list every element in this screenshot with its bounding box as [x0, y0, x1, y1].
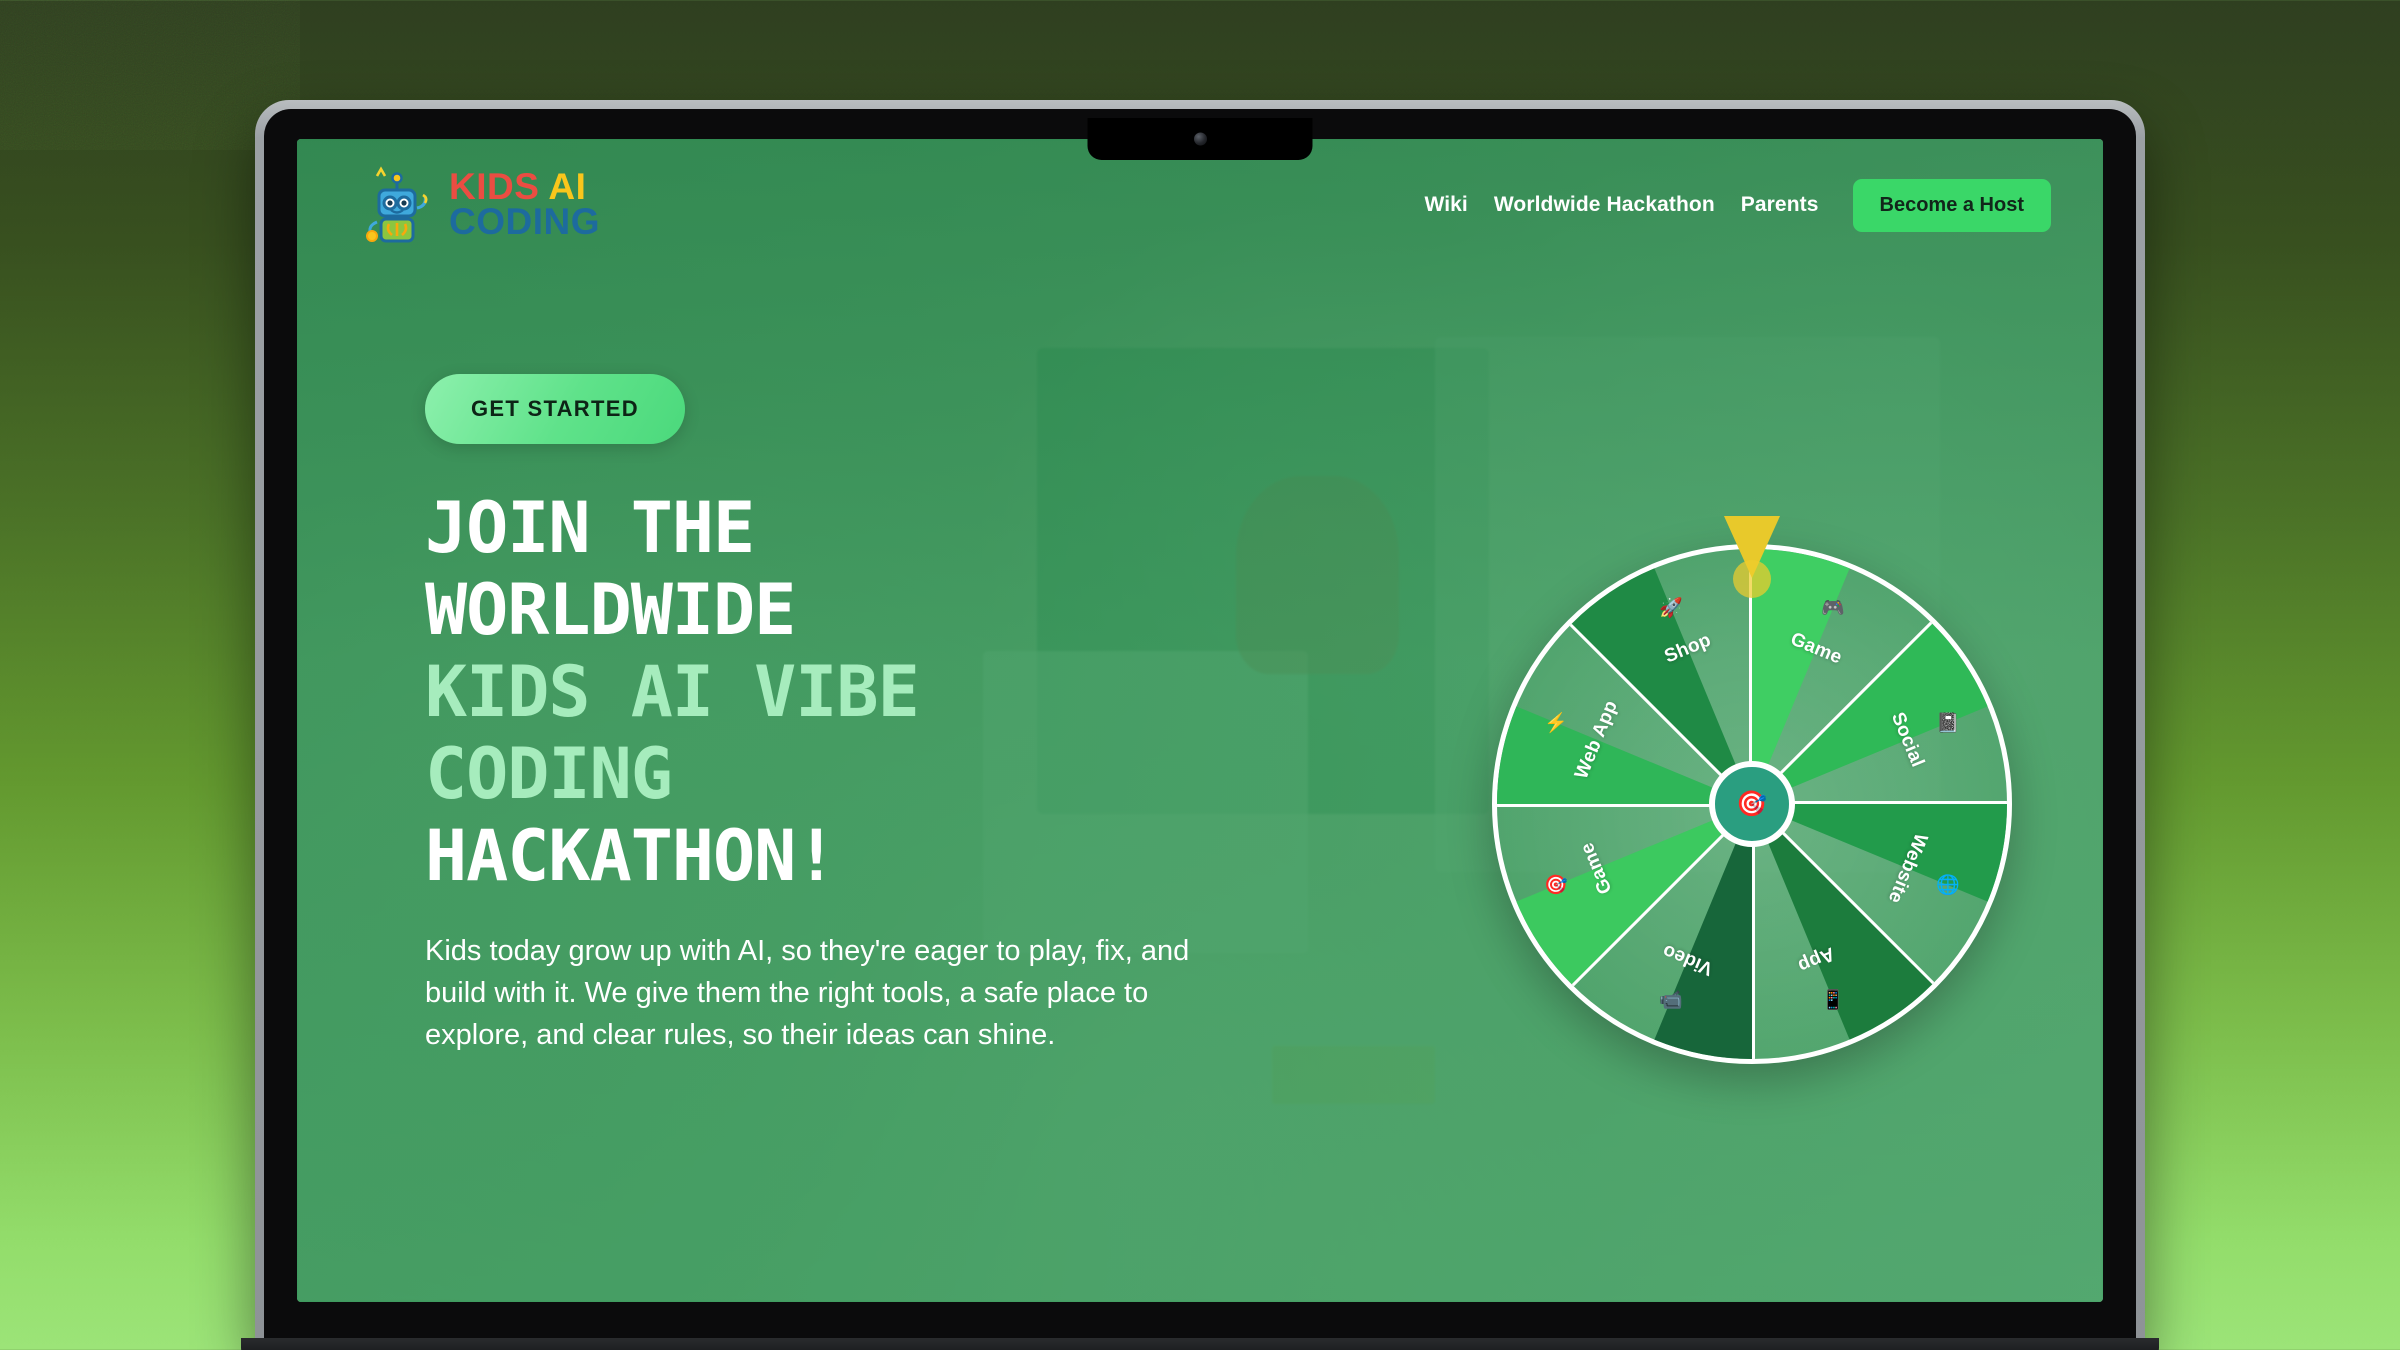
globe-icon: 🌐: [1936, 873, 1960, 897]
headline-line-3: KIDS AI VIBE: [425, 651, 919, 733]
bolt-icon: ⚡: [1544, 711, 1568, 735]
laptop-screen: KIDSAI CODING Wiki Worldwide Hackathon P…: [297, 139, 2103, 1302]
camera-icon: [1194, 133, 1207, 146]
screen-notch: [1088, 118, 1313, 160]
logo-coding: CODING: [449, 205, 600, 240]
wheel-pointer-icon: [1724, 516, 1780, 590]
laptop-base: [241, 1338, 2159, 1350]
wheel-hub-target-icon[interactable]: 🎯: [1709, 761, 1795, 847]
hero-headline: JOIN THE WORLDWIDE KIDS AI VIBE CODING H…: [425, 488, 1285, 897]
headline-line-1: JOIN THE: [425, 487, 754, 569]
notebook-icon: 📓: [1936, 711, 1960, 735]
hero-paragraph: Kids today grow up with AI, so they're e…: [425, 931, 1225, 1056]
nav-item-worldwide-hackathon[interactable]: Worldwide Hackathon: [1494, 193, 1715, 217]
nav-item-parents[interactable]: Parents: [1741, 193, 1819, 217]
gamepad-icon: 🎮: [1821, 596, 1845, 620]
phone-icon: 📱: [1821, 988, 1845, 1012]
main-navigation: Wiki Worldwide Hackathon Parents Become …: [1424, 179, 2051, 232]
camcorder-icon: 📹: [1659, 988, 1683, 1012]
hero-content: GET STARTED JOIN THE WORLDWIDE KIDS AI V…: [425, 374, 1285, 1057]
robot-mascot-icon: [359, 164, 435, 246]
target-icon: 🎯: [1544, 873, 1568, 897]
rocket-icon: 🚀: [1659, 596, 1683, 620]
headline-line-4: CODING: [425, 733, 672, 815]
get-started-button[interactable]: GET STARTED: [425, 374, 685, 444]
brand-logo[interactable]: KIDSAI CODING: [359, 164, 600, 246]
become-a-host-button[interactable]: Become a Host: [1853, 179, 2052, 232]
category-spinner-wheel[interactable]: Game🎮Social📓Website🌐App📱Video📹Game🎯Web A…: [1492, 544, 2012, 1064]
laptop-device: KIDSAI CODING Wiki Worldwide Hackathon P…: [255, 100, 2145, 1350]
headline-line-2: WORLDWIDE: [425, 569, 795, 651]
nav-item-wiki[interactable]: Wiki: [1424, 193, 1467, 217]
laptop-bezel: KIDSAI CODING Wiki Worldwide Hackathon P…: [264, 109, 2136, 1350]
laptop-lid: KIDSAI CODING Wiki Worldwide Hackathon P…: [255, 100, 2145, 1350]
headline-line-5: HACKATHON!: [425, 815, 836, 897]
